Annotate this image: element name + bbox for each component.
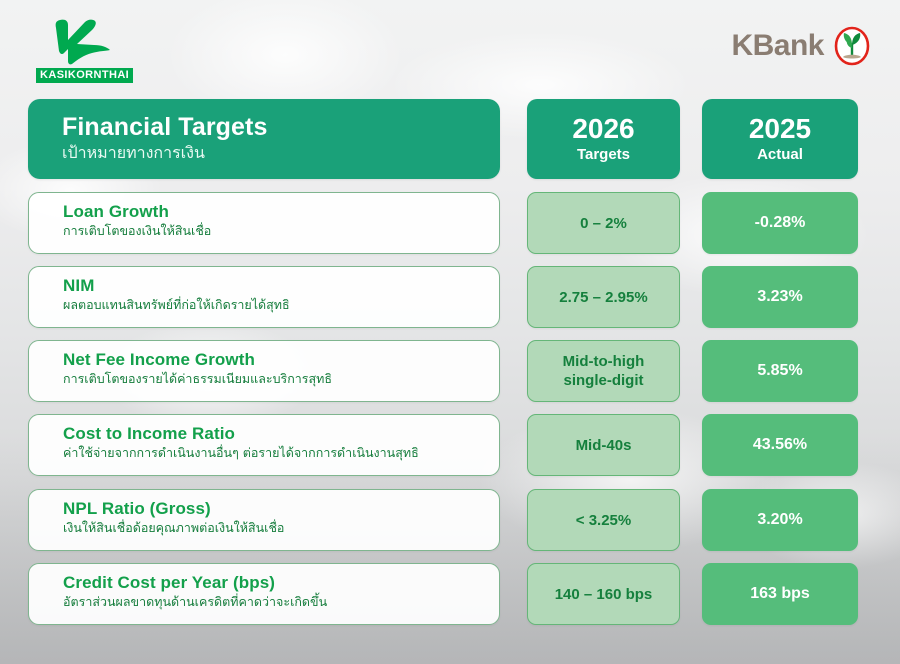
metric-target-value: < 3.25% — [527, 489, 680, 551]
metric-target-value: Mid-40s — [527, 414, 680, 476]
metric-target-value: 2.75 – 2.95% — [527, 266, 680, 328]
metric-target-value: 0 – 2% — [527, 192, 680, 254]
page-title-en: Financial Targets — [62, 113, 500, 141]
metric-label-en: Loan Growth — [63, 201, 499, 222]
column-header-year: 2026 — [572, 114, 634, 144]
column-header-year: 2025 — [749, 114, 811, 144]
metric-actual-value: 163 bps — [702, 563, 858, 625]
metric-actual-value: 5.85% — [702, 340, 858, 402]
metric-label-th: เงินให้สินเชื่อด้อยคุณภาพต่อเงินให้สินเช… — [63, 519, 499, 537]
kbank-wordmark: KBank — [731, 31, 824, 61]
metric-label-th: อัตราส่วนผลขาดทุนด้านเครดิตที่คาดว่าจะเก… — [63, 593, 499, 611]
table-row: Cost to Income Ratio ค่าใช้จ่ายจากการดำเ… — [0, 414, 900, 476]
kbank-logo: KBank — [731, 26, 872, 66]
column-header-sub: Targets — [577, 145, 630, 164]
metric-label-th: ค่าใช้จ่ายจากการดำเนินงานอื่นๆ ต่อรายได้… — [63, 444, 499, 462]
metric-label-card: NPL Ratio (Gross) เงินให้สินเชื่อด้อยคุณ… — [28, 489, 500, 551]
kasikornthai-logo: KASIKORNTHAI — [36, 18, 146, 84]
metric-label-card: Credit Cost per Year (bps) อัตราส่วนผลขา… — [28, 563, 500, 625]
metric-label-card: Loan Growth การเติบโตของเงินให้สินเชื่อ — [28, 192, 500, 254]
metric-actual-value: 3.20% — [702, 489, 858, 551]
metric-label-en: Cost to Income Ratio — [63, 423, 499, 444]
column-header-actual: 2025 Actual — [702, 99, 858, 179]
metric-label-th: การเติบโตของรายได้ค่าธรรมเนียมและบริการส… — [63, 370, 499, 388]
column-header-targets: 2026 Targets — [527, 99, 680, 179]
metric-actual-value: 43.56% — [702, 414, 858, 476]
slide-canvas: KASIKORNTHAI KBank Financial Targets เป้… — [0, 0, 900, 664]
table-row: Credit Cost per Year (bps) อัตราส่วนผลขา… — [0, 563, 900, 625]
page-title-card: Financial Targets เป้าหมายทางการเงิน — [28, 99, 500, 179]
metric-label-en: Net Fee Income Growth — [63, 349, 499, 370]
metric-label-card: Net Fee Income Growth การเติบโตของรายได้… — [28, 340, 500, 402]
metric-target-value: Mid-to-high single-digit — [527, 340, 680, 402]
column-header-sub: Actual — [757, 145, 803, 164]
metric-label-en: Credit Cost per Year (bps) — [63, 572, 499, 593]
table-row: Net Fee Income Growth การเติบโตของรายได้… — [0, 340, 900, 402]
kasikorn-k-icon — [44, 18, 124, 66]
metric-label-en: NIM — [63, 275, 499, 296]
metric-actual-value: 3.23% — [702, 266, 858, 328]
table-row: Loan Growth การเติบโตของเงินให้สินเชื่อ … — [0, 192, 900, 254]
metric-label-card: NIM ผลตอบแทนสินทรัพย์ที่ก่อให้เกิดรายได้… — [28, 266, 500, 328]
kasikornthai-wordmark: KASIKORNTHAI — [36, 68, 133, 83]
metric-target-value: 140 – 160 bps — [527, 563, 680, 625]
metric-actual-value: -0.28% — [702, 192, 858, 254]
kbank-seedling-seal-icon — [832, 26, 872, 66]
metric-label-card: Cost to Income Ratio ค่าใช้จ่ายจากการดำเ… — [28, 414, 500, 476]
table-header-row: Financial Targets เป้าหมายทางการเงิน 202… — [0, 99, 900, 179]
page-title-th: เป้าหมายทางการเงิน — [62, 142, 500, 164]
metric-label-en: NPL Ratio (Gross) — [63, 498, 499, 519]
table-row: NIM ผลตอบแทนสินทรัพย์ที่ก่อให้เกิดรายได้… — [0, 266, 900, 328]
metric-label-th: ผลตอบแทนสินทรัพย์ที่ก่อให้เกิดรายได้สุทธ… — [63, 296, 499, 314]
metric-label-th: การเติบโตของเงินให้สินเชื่อ — [63, 222, 499, 240]
table-row: NPL Ratio (Gross) เงินให้สินเชื่อด้อยคุณ… — [0, 489, 900, 551]
